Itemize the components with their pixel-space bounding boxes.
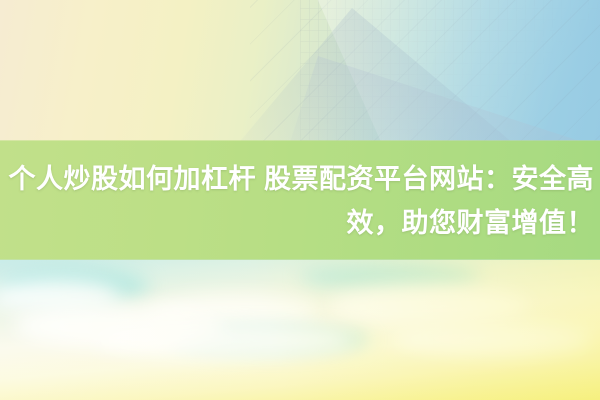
headline-text: 个人炒股如何加杠杆 股票配资平台网站：安全高效，助您财富增值！ (6, 157, 594, 245)
grid-texture-decoration (300, 0, 600, 141)
diagonal-facet-grey (272, 56, 600, 141)
diagonal-facet-light (300, 0, 600, 141)
bottom-sky-gradient (0, 260, 600, 400)
diagonal-lines-decoration (250, 0, 600, 141)
top-decorative-gradient (0, 0, 600, 141)
bottom-yellow-tint (0, 260, 600, 400)
headline-band: 个人炒股如何加杠杆 股票配资平台网站：安全高效，助您财富增值！ (0, 141, 600, 260)
promo-banner: 个人炒股如何加杠杆 股票配资平台网站：安全高效，助您财富增值！ (0, 0, 600, 400)
diagonal-facet-blue (236, 8, 600, 141)
